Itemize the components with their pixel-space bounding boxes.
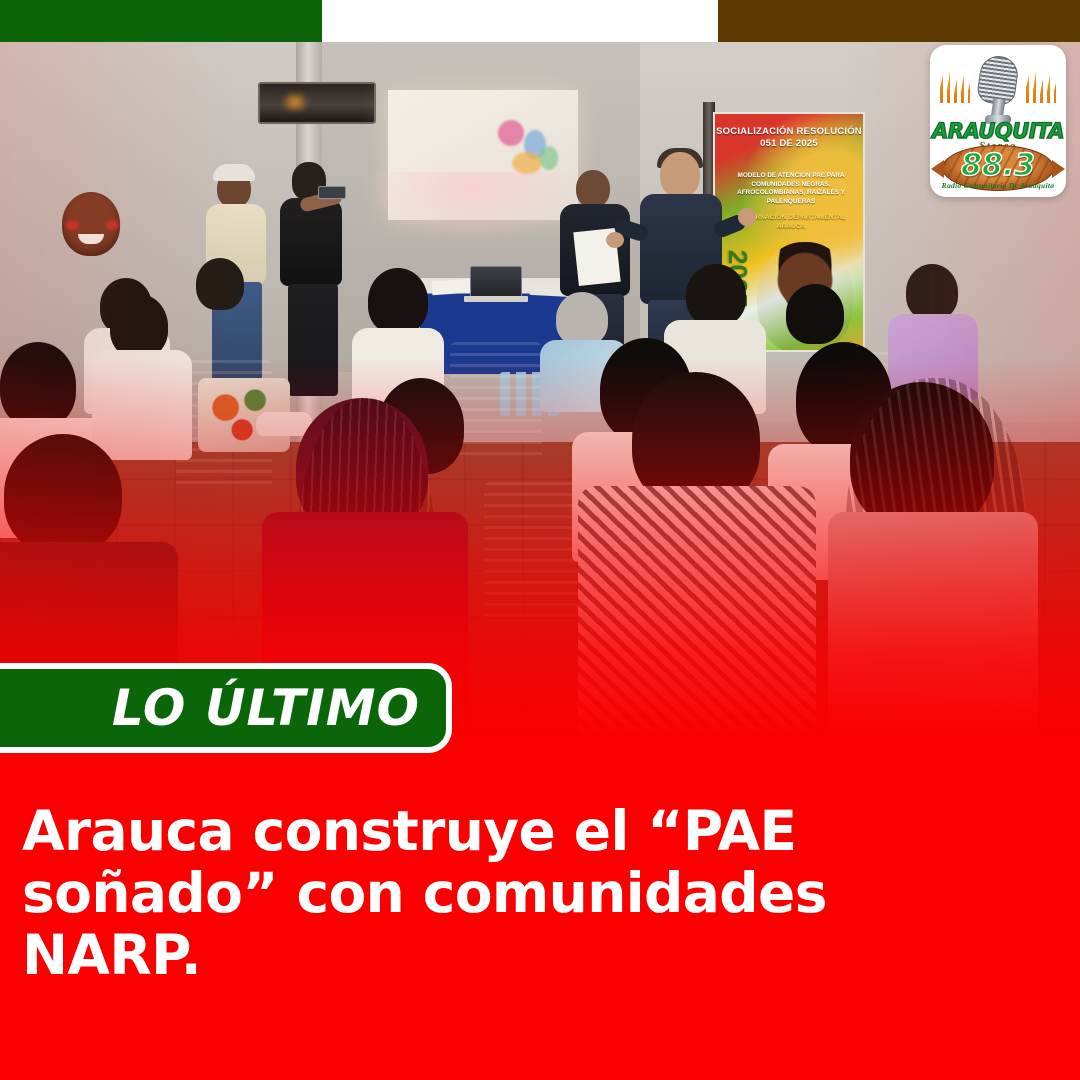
banner-headline: SOCIALIZACIÓN RESOLUCIÓN 051 DE 2025 bbox=[715, 126, 863, 150]
banner-child-cheek-right bbox=[106, 220, 119, 230]
filming-man-legs bbox=[288, 284, 338, 396]
audio-waveform-icon bbox=[1026, 69, 1056, 103]
news-photo: SOCIALIZACIÓN RESOLUCIÓN 051 DE 2025 MOD… bbox=[0, 42, 1080, 760]
main-speaker-hand-right bbox=[738, 208, 756, 226]
audience-member-patterned-blouse bbox=[578, 486, 816, 760]
station-frequency: 88.3 bbox=[930, 148, 1066, 183]
top-color-bar bbox=[0, 0, 1080, 42]
sneaker bbox=[256, 412, 312, 436]
station-logo-card[interactable]: ARAUQUITA Stereo 88.3 Radio Comunitaria … bbox=[930, 45, 1066, 197]
photo-scene: SOCIALIZACIÓN RESOLUCIÓN 051 DE 2025 MOD… bbox=[0, 42, 1080, 760]
projector-light-spill bbox=[360, 172, 580, 242]
slide-graphic-1 bbox=[498, 120, 524, 146]
slide-graphic-3 bbox=[512, 152, 542, 174]
audience-member-body bbox=[828, 512, 1038, 760]
audience-member-body bbox=[92, 350, 192, 460]
assistant-presenter-head bbox=[576, 170, 610, 208]
station-tagline: Radio Comunitaria De Arauquita bbox=[930, 181, 1066, 190]
top-bar-segment-green bbox=[0, 0, 322, 42]
audience-member-head bbox=[0, 342, 76, 428]
top-bar-segment-white bbox=[322, 0, 718, 42]
main-speaker-hand-left bbox=[606, 232, 624, 248]
plastic-chair bbox=[484, 482, 580, 622]
audience-member-head bbox=[556, 292, 608, 346]
audience-member-head bbox=[110, 294, 168, 358]
table-papers-left bbox=[432, 279, 471, 296]
smartphone-recording bbox=[318, 186, 346, 199]
audio-waveform-icon bbox=[940, 69, 970, 103]
station-logo: ARAUQUITA Stereo 88.3 Radio Comunitaria … bbox=[930, 45, 1066, 197]
audience-member-head bbox=[368, 268, 428, 334]
breaking-news-badge: LO ÚLTIMO bbox=[0, 663, 452, 753]
slide-graphic-4 bbox=[540, 146, 558, 170]
breaking-news-label: LO ÚLTIMO bbox=[112, 683, 420, 733]
audience-member-head bbox=[196, 258, 244, 310]
audience-member-head bbox=[4, 434, 122, 554]
banner-child-cheek-left bbox=[66, 220, 79, 230]
headline-text: Arauca construye el “PAE soñado” con com… bbox=[22, 800, 982, 986]
main-speaker-head bbox=[660, 152, 700, 198]
plastic-chair bbox=[450, 342, 542, 462]
audience-member-head bbox=[906, 264, 958, 320]
audience-member-head bbox=[686, 264, 746, 326]
standing-man-cap-hat bbox=[213, 164, 255, 181]
audience-member-head bbox=[786, 284, 844, 344]
air-conditioner-unit bbox=[258, 82, 376, 124]
banner-subtitle: MODELO DE ATENCIÓN PAE PARA COMUNIDADES … bbox=[723, 172, 859, 207]
top-bar-segment-brown bbox=[718, 0, 1080, 42]
laptop-keyboard bbox=[464, 296, 528, 302]
ac-indicator-glow bbox=[278, 94, 312, 110]
laptop-screen bbox=[470, 266, 522, 298]
news-card: SOCIALIZACIÓN RESOLUCIÓN 051 DE 2025 MOD… bbox=[0, 0, 1080, 1080]
filming-man-torso bbox=[280, 198, 342, 286]
